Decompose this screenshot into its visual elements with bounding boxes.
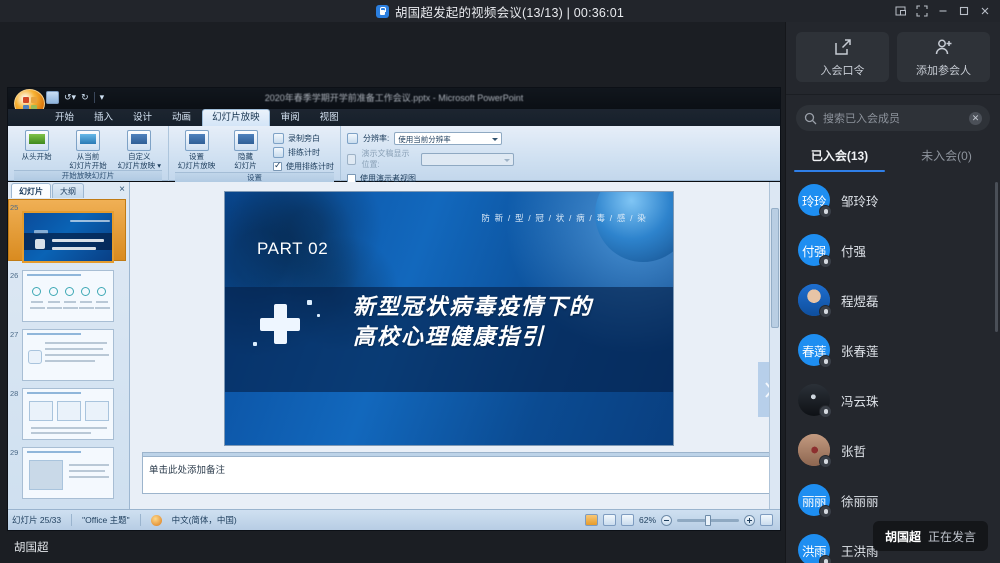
start-from-current-button[interactable]: 从当前 幻灯片开始 bbox=[65, 129, 110, 170]
slide-part-label: PART 02 bbox=[257, 239, 328, 259]
mic-muted-icon bbox=[819, 405, 832, 418]
add-person-icon bbox=[934, 37, 954, 57]
minimize-icon[interactable] bbox=[933, 2, 952, 21]
join-passcode-label: 入会口令 bbox=[821, 62, 865, 78]
fullscreen-icon[interactable] bbox=[912, 2, 931, 21]
slide-scrollbar[interactable] bbox=[769, 182, 780, 509]
picture-in-picture-icon[interactable] bbox=[891, 2, 910, 21]
tab-not-joined[interactable]: 未入会(0) bbox=[893, 141, 1000, 172]
mic-muted-icon bbox=[819, 305, 832, 318]
speaking-indicator: 胡国超 正在发言 bbox=[873, 521, 988, 551]
tab-slides[interactable]: 幻灯片 bbox=[11, 183, 51, 198]
undo-icon[interactable]: ↺▾ bbox=[64, 92, 76, 103]
zoom-out-icon[interactable] bbox=[661, 515, 672, 526]
thumbnail-slide-27[interactable]: 27 bbox=[22, 329, 119, 381]
avatar bbox=[798, 284, 830, 316]
powerpoint-titlebar: ↺▾ ↻ ▾ 2020年春季学期开学前准备工作会议.pptx - Microso… bbox=[8, 88, 780, 109]
zoom-level: 62% bbox=[639, 515, 656, 525]
participant-name: 徐丽丽 bbox=[841, 491, 879, 510]
tab-outline[interactable]: 大纲 bbox=[52, 183, 84, 198]
join-passcode-button[interactable]: 入会口令 bbox=[796, 32, 889, 82]
avatar: 玲玲 bbox=[798, 184, 830, 216]
thumbnail-image bbox=[22, 447, 114, 499]
start-from-beginning-button[interactable]: 从头开始 bbox=[14, 129, 59, 161]
language-icon bbox=[151, 515, 162, 526]
ribbon-group-title-start-slideshow: 开始放映幻灯片 bbox=[14, 170, 162, 181]
zoom-slider[interactable] bbox=[677, 519, 739, 522]
avatar: 洪雨 bbox=[798, 534, 830, 563]
lock-icon bbox=[376, 5, 389, 18]
rehearse-timings-icon bbox=[273, 147, 284, 158]
thumbnail-image bbox=[22, 329, 114, 381]
meeting-title: 胡国超发起的视频会议(13/13) | 00:36:01 bbox=[395, 2, 624, 21]
use-rehearsed-timings-checkbox[interactable]: 使用排练计时 bbox=[273, 161, 334, 172]
thumbnail-image bbox=[22, 388, 114, 440]
slide-title: 新型冠状病毒疫情下的 高校心理健康指引 bbox=[353, 292, 593, 352]
slide-sorter-icon[interactable] bbox=[603, 514, 616, 526]
list-item[interactable]: 张哲 bbox=[786, 425, 1000, 475]
ribbon-tab-home[interactable]: 开始 bbox=[46, 110, 83, 126]
slide-editing-area: 防 新 / 型 / 冠 / 状 / 病 / 毒 / 感 / 染 PART 02 … bbox=[130, 182, 780, 509]
avatar bbox=[798, 434, 830, 466]
resolution-select[interactable]: 使用当前分辨率 bbox=[394, 132, 502, 145]
powerpoint-status-bar: 幻灯片 25/33 "Office 主题" 中文(简体，中国) 62% bbox=[8, 509, 780, 530]
window-controls bbox=[891, 0, 994, 22]
list-item[interactable]: 付强 付强 bbox=[786, 225, 1000, 275]
status-divider bbox=[71, 514, 72, 526]
scrollbar-thumb[interactable] bbox=[771, 208, 779, 328]
mic-muted-icon bbox=[819, 555, 832, 563]
record-narration-icon bbox=[273, 133, 284, 144]
list-item[interactable]: 程煜磊 bbox=[786, 275, 1000, 325]
notes-placeholder: 单击此处添加备注 bbox=[143, 457, 780, 481]
checkbox-icon bbox=[273, 162, 282, 171]
search-placeholder: 搜索已入会成员 bbox=[823, 110, 963, 126]
monitor-icon bbox=[347, 154, 356, 165]
participant-tabs: 已入会(13) 未入会(0) bbox=[786, 137, 1000, 172]
participant-name: 张春莲 bbox=[841, 341, 879, 360]
zoom-slider-handle[interactable] bbox=[705, 515, 711, 526]
setup-slideshow-icon bbox=[185, 130, 209, 151]
hide-slide-icon bbox=[234, 130, 258, 151]
custom-slideshow-button[interactable]: 自定义 幻灯片放映 ▾ bbox=[117, 129, 162, 170]
search-input[interactable]: 搜索已入会成员 ✕ bbox=[796, 105, 990, 131]
resolution-label: 分辨率: bbox=[363, 133, 389, 144]
thumbnail-list[interactable]: 25 bbox=[8, 198, 129, 509]
thumbnail-image bbox=[22, 211, 114, 263]
normal-view-icon[interactable] bbox=[585, 514, 598, 526]
maximize-icon[interactable] bbox=[954, 2, 973, 21]
search-section: 搜索已入会成员 ✕ bbox=[786, 95, 1000, 137]
meeting-window: 胡国超发起的视频会议(13/13) | 00:36:01 bbox=[0, 0, 1000, 563]
fit-to-window-icon[interactable] bbox=[760, 514, 773, 526]
list-item[interactable]: 春莲 张春莲 bbox=[786, 325, 1000, 375]
ribbon-tab-design[interactable]: 设计 bbox=[124, 110, 161, 126]
current-slide[interactable]: 防 新 / 型 / 冠 / 状 / 病 / 毒 / 感 / 染 PART 02 … bbox=[225, 192, 673, 445]
list-item[interactable]: 丽丽 徐丽丽 bbox=[786, 475, 1000, 525]
panel-action-buttons: 入会口令 添加参会人 bbox=[786, 22, 1000, 94]
mic-muted-icon bbox=[819, 505, 832, 518]
mic-muted-icon bbox=[819, 255, 832, 268]
slide-counter: 幻灯片 25/33 bbox=[12, 514, 61, 526]
setup-slideshow-button[interactable]: 设置 幻灯片放映 bbox=[175, 129, 218, 170]
share-link-icon bbox=[833, 37, 853, 57]
ribbon-group-monitors: 分辨率: 使用当前分辨率 演示文稿显示位置: 使用演示者视图 bbox=[340, 126, 520, 181]
participant-name: 程煜磊 bbox=[841, 291, 879, 310]
ribbon: 从头开始 从当前 幻灯片开始 自定义 幻灯片放映 ▾ 开 bbox=[8, 126, 780, 181]
thumbnail-slide-25[interactable]: 25 bbox=[22, 202, 119, 263]
thumbnail-tabs: 幻灯片 大纲 × bbox=[8, 182, 129, 198]
slide-title-line2: 高校心理健康指引 bbox=[353, 322, 593, 352]
avatar bbox=[798, 384, 830, 416]
custom-slideshow-icon bbox=[127, 130, 151, 151]
customize-qat-icon[interactable]: ▾ bbox=[100, 92, 105, 103]
search-icon bbox=[804, 112, 817, 125]
start-from-beginning-icon bbox=[25, 130, 49, 151]
thumbnail-slide-29[interactable]: 29 bbox=[22, 447, 119, 499]
ribbon-tab-insert[interactable]: 插入 bbox=[85, 110, 122, 126]
resolution-row: 分辨率: 使用当前分辨率 bbox=[347, 132, 502, 145]
avatar: 春莲 bbox=[798, 334, 830, 366]
show-presentation-on-label: 演示文稿显示位置: bbox=[361, 148, 416, 170]
toolbar-divider bbox=[94, 92, 95, 103]
avatar: 丽丽 bbox=[798, 484, 830, 516]
theme-name: "Office 主题" bbox=[82, 514, 129, 526]
show-presentation-on-select bbox=[421, 153, 514, 166]
participant-name: 邹玲玲 bbox=[841, 191, 879, 210]
participant-list-scrollbar[interactable] bbox=[995, 182, 998, 332]
participant-name: 张哲 bbox=[841, 441, 866, 460]
participant-name: 冯云珠 bbox=[841, 391, 879, 410]
close-icon[interactable] bbox=[975, 2, 994, 21]
rehearse-timings-button[interactable]: 排练计时 bbox=[273, 147, 334, 158]
powerpoint-workspace: 幻灯片 大纲 × 25 bbox=[8, 182, 780, 509]
thumbnail-image bbox=[22, 270, 114, 322]
close-thumbnail-pane-icon[interactable]: × bbox=[119, 184, 125, 195]
ribbon-tab-view[interactable]: 视图 bbox=[311, 110, 348, 126]
thumbnail-number: 29 bbox=[10, 448, 18, 457]
mic-muted-icon bbox=[819, 455, 832, 468]
slide-thumbnail-pane: 幻灯片 大纲 × 25 bbox=[8, 182, 130, 509]
participant-list[interactable]: 玲玲 邹玲玲 付强 付强 程煜磊 bbox=[786, 175, 1000, 563]
tab-joined[interactable]: 已入会(13) bbox=[786, 141, 893, 172]
quick-access-toolbar: ↺▾ ↻ ▾ bbox=[46, 91, 104, 104]
clear-icon[interactable]: ✕ bbox=[969, 112, 982, 125]
record-narration-button[interactable]: 录制旁白 bbox=[273, 133, 334, 144]
ribbon-tab-animations[interactable]: 动画 bbox=[163, 110, 200, 126]
language-label: 中文(简体，中国) bbox=[172, 514, 237, 526]
add-participant-label: 添加参会人 bbox=[916, 62, 971, 78]
slide-title-line1: 新型冠状病毒疫情下的 bbox=[353, 292, 593, 322]
zoom-controls: 62% bbox=[585, 514, 776, 526]
list-item[interactable]: 冯云珠 bbox=[786, 375, 1000, 425]
slide-kicker-text: 防 新 / 型 / 冠 / 状 / 病 / 毒 / 感 / 染 bbox=[481, 212, 647, 224]
ribbon-group-start-slideshow: 从头开始 从当前 幻灯片开始 自定义 幻灯片放映 ▾ 开 bbox=[8, 126, 168, 181]
redo-icon[interactable]: ↻ bbox=[81, 92, 89, 103]
speaking-status: 正在发言 bbox=[928, 528, 976, 545]
avatar: 付强 bbox=[798, 234, 830, 266]
notes-pane[interactable]: 单击此处添加备注 bbox=[142, 452, 780, 494]
speaker-name: 胡国超 bbox=[885, 528, 921, 545]
medical-cross-icon bbox=[260, 304, 300, 344]
save-icon[interactable] bbox=[46, 91, 59, 104]
start-from-current-icon bbox=[76, 130, 100, 151]
thumbnail-number: 28 bbox=[10, 389, 18, 398]
ribbon-group-setup: 设置 幻灯片放映 隐藏 幻灯片 录制旁白 bbox=[168, 126, 340, 181]
hide-slide-button[interactable]: 隐藏 幻灯片 bbox=[224, 129, 267, 170]
resolution-icon bbox=[347, 133, 358, 144]
thumbnail-slide-26[interactable]: 26 bbox=[22, 270, 119, 322]
ribbon-tab-slideshow[interactable]: 幻灯片放映 bbox=[202, 109, 270, 126]
ribbon-tab-review[interactable]: 审阅 bbox=[272, 110, 309, 126]
status-divider bbox=[140, 514, 141, 526]
mic-muted-icon bbox=[819, 355, 832, 368]
participants-panel: 入会口令 添加参会人 搜索已入会成员 ✕ bbox=[785, 22, 1000, 563]
add-participant-button[interactable]: 添加参会人 bbox=[897, 32, 990, 82]
thumbnail-number: 26 bbox=[10, 271, 18, 280]
ribbon-tab-strip: 开始 插入 设计 动画 幻灯片放映 审阅 视图 bbox=[8, 109, 780, 126]
powerpoint-window: ↺▾ ↻ ▾ 2020年春季学期开学前准备工作会议.pptx - Microso… bbox=[8, 88, 780, 530]
show-presentation-on-row: 演示文稿显示位置: bbox=[347, 148, 514, 170]
mic-muted-icon bbox=[819, 205, 832, 218]
shared-screen-stage: ↺▾ ↻ ▾ 2020年春季学期开学前准备工作会议.pptx - Microso… bbox=[0, 22, 785, 563]
thumbnail-slide-28[interactable]: 28 bbox=[22, 388, 119, 440]
zoom-in-icon[interactable] bbox=[744, 515, 755, 526]
self-participant-name: 胡国超 bbox=[14, 539, 49, 555]
participant-name: 付强 bbox=[841, 241, 866, 260]
reading-view-icon[interactable] bbox=[621, 514, 634, 526]
list-item[interactable]: 玲玲 邹玲玲 bbox=[786, 175, 1000, 225]
powerpoint-document-title: 2020年春季学期开学前准备工作会议.pptx - Microsoft Powe… bbox=[265, 91, 524, 104]
window-titlebar: 胡国超发起的视频会议(13/13) | 00:36:01 bbox=[0, 0, 1000, 22]
setup-small-commands: 录制旁白 排练计时 使用排练计时 bbox=[273, 129, 334, 172]
meeting-title-group: 胡国超发起的视频会议(13/13) | 00:36:01 bbox=[376, 2, 624, 21]
thumbnail-number: 27 bbox=[10, 330, 18, 339]
